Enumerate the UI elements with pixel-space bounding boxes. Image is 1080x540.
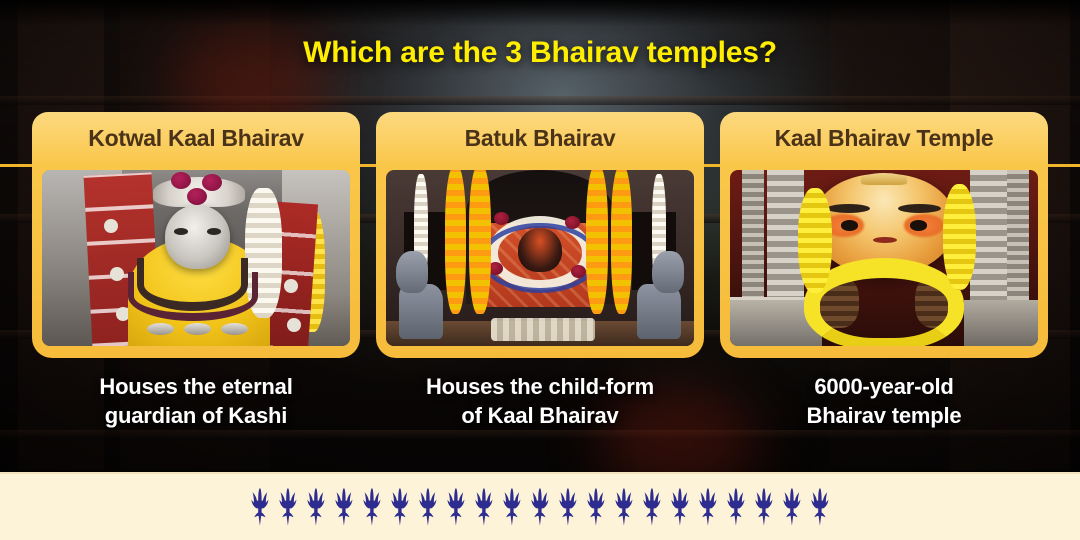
trident-icon xyxy=(527,488,553,526)
trident-icon xyxy=(359,488,385,526)
trident-icon xyxy=(695,488,721,526)
card-caption: Houses the eternal guardian of Kashi xyxy=(28,372,364,430)
card-title: Kotwal Kaal Bhairav xyxy=(32,112,360,164)
caption-line: guardian of Kashi xyxy=(28,401,364,430)
trident-icon xyxy=(499,488,525,526)
card-caption: 6000-year-old Bhairav temple xyxy=(716,372,1052,430)
temple-card-list: Kotwal Kaal Bhairav xyxy=(0,112,1080,372)
trident-icon xyxy=(639,488,665,526)
temple-photo-batuk-bhairav xyxy=(386,170,694,346)
trident-icon xyxy=(247,488,273,526)
temple-card[interactable]: Batuk Bhairav xyxy=(376,112,704,358)
temple-photo-kaal-bhairav-temple xyxy=(730,170,1038,346)
caption-line: Houses the eternal xyxy=(28,372,364,401)
caption-line: Houses the child-form xyxy=(372,372,708,401)
card-image-frame xyxy=(32,162,360,358)
card-caption: Houses the child-form of Kaal Bhairav xyxy=(372,372,708,430)
caption-line: 6000-year-old xyxy=(716,372,1052,401)
trident-icon xyxy=(275,488,301,526)
trident-icon xyxy=(443,488,469,526)
page-title: Which are the 3 Bhairav temples? xyxy=(0,36,1080,70)
stone-dog-statue xyxy=(632,251,684,339)
temple-card[interactable]: Kaal Bhairav Temple xyxy=(720,112,1048,358)
card-title: Batuk Bhairav xyxy=(376,112,704,164)
trident-icon xyxy=(667,488,693,526)
trident-icon xyxy=(471,488,497,526)
trident-icon xyxy=(751,488,777,526)
caption-line: of Kaal Bhairav xyxy=(372,401,708,430)
caption-line: Bhairav temple xyxy=(716,401,1052,430)
stone-dog-statue xyxy=(395,251,447,339)
card-image-frame xyxy=(720,162,1048,358)
trident-icon xyxy=(583,488,609,526)
temple-photo-kotwal-kaal-bhairav xyxy=(42,170,350,346)
card-title: Kaal Bhairav Temple xyxy=(720,112,1048,164)
trident-icon xyxy=(555,488,581,526)
trident-icon xyxy=(611,488,637,526)
trident-icon xyxy=(331,488,357,526)
trident-icon xyxy=(723,488,749,526)
trident-icon xyxy=(387,488,413,526)
card-image-frame xyxy=(376,162,704,358)
trident-icon xyxy=(303,488,329,526)
trident-footer-strip xyxy=(0,472,1080,540)
trident-icon xyxy=(779,488,805,526)
trident-icon xyxy=(415,488,441,526)
temple-card[interactable]: Kotwal Kaal Bhairav xyxy=(32,112,360,358)
trident-icon xyxy=(807,488,833,526)
